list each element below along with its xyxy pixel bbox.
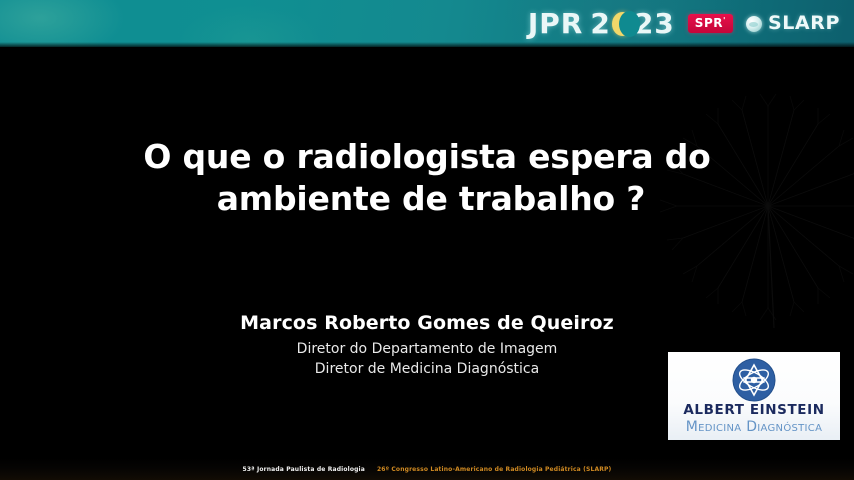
spr-badge-label: SPR (695, 16, 723, 30)
event-header-bar: JPR 2 23 SPR' SLARP (0, 0, 854, 47)
spr-badge-accent: ' (723, 16, 726, 25)
slarp-logo: SLARP (746, 14, 840, 33)
einstein-name-text: ALBERT EINSTEIN (668, 402, 840, 418)
einstein-star-emblem-icon (732, 358, 776, 402)
slide-title-line-2: ambiente de trabalho ? (0, 178, 854, 220)
header-logo-group: JPR 2 23 SPR' SLARP (528, 0, 840, 47)
einstein-subtitle-text: Medicina Diagnóstica (652, 419, 854, 435)
jpr-year-prefix: 2 (590, 10, 610, 38)
spr-logo-badge: SPR' (688, 14, 733, 33)
jpr-wordmark-text: JPR (528, 10, 584, 38)
jpr-logo: JPR 2 23 (528, 10, 675, 38)
slide-title-line-1: O que o radiologista espera do (0, 136, 854, 178)
slarp-label: SLARP (768, 14, 840, 33)
footer-jornada-text: 53ª Jornada Paulista de Radiologia (243, 466, 365, 473)
jpr-year-suffix: 23 (634, 10, 675, 38)
footer-congresso-text: 26º Congresso Latino-Americano de Radiol… (377, 466, 612, 473)
slide-title: O que o radiologista espera do ambiente … (0, 136, 854, 220)
event-footer-bar: 53ª Jornada Paulista de Radiologia 26º C… (0, 458, 854, 480)
globe-icon (746, 16, 762, 32)
presentation-slide: JPR 2 23 SPR' SLARP (0, 0, 854, 480)
crescent-moon-icon (612, 12, 633, 36)
albert-einstein-logo: ALBERT EINSTEIN Medicina Diagnóstica (668, 352, 840, 440)
speaker-name: Marcos Roberto Gomes de Queiroz (0, 312, 854, 335)
